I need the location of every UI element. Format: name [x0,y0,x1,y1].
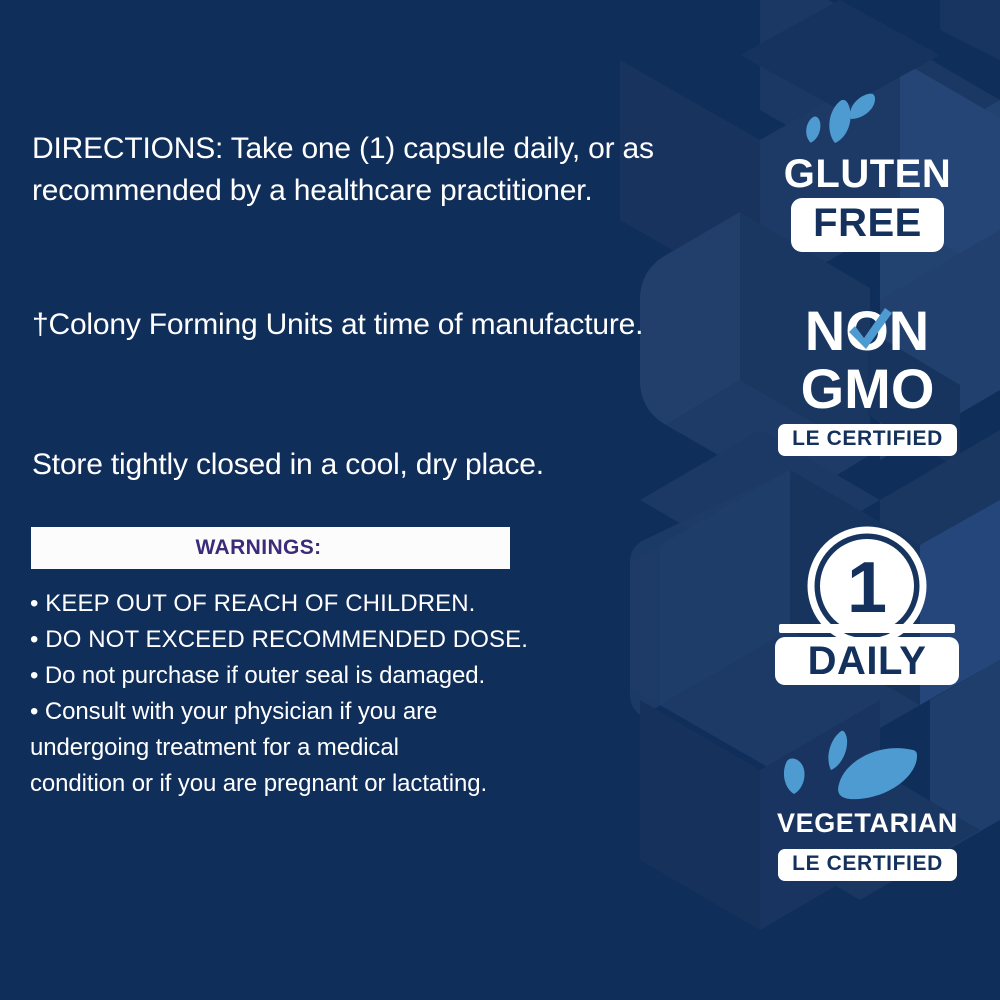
gluten-free-line2-pill: FREE [791,198,944,252]
storage-instructions-paragraph: Store tightly closed in a cool, dry plac… [32,444,692,486]
warnings-banner: WARNINGS: [31,527,510,569]
warnings-list: • KEEP OUT OF REACH OF CHILDREN. • DO NO… [30,586,630,802]
one-daily-graphic: 1 DAILY 1 DAILY [735,524,1000,684]
vegetarian-label: VEGETARIAN [735,808,1000,839]
badge-non-gmo: NON NON GMO LE CERTIFIED [735,300,1000,456]
gluten-free-leaves-wrap [735,88,1000,150]
three-leaves-icon [735,728,1000,802]
gluten-free-line1: GLUTEN [735,152,1000,196]
svg-text:1: 1 [847,548,887,628]
warnings-title: WARNINGS: [195,536,321,560]
circle-numeral-icon: 1 DAILY [735,524,1000,689]
svg-text:DAILY: DAILY [808,639,927,683]
non-gmo-line2: GMO [735,360,1000,418]
certification-badges-column: GLUTEN FREE NON NON GMO LE CERTIFIED [735,0,1000,1000]
vegetarian-certified-pill: LE CERTIFIED [778,849,957,881]
vegetarian-leaves-wrap [735,728,1000,802]
non-gmo-line1-wrap: NON NON [735,300,1000,360]
non-gmo-certified-pill: LE CERTIFIED [778,424,957,456]
badge-vegetarian: VEGETARIAN LE CERTIFIED [735,728,1000,881]
checkmark-in-o-icon: NON [735,300,1000,362]
svg-text:NON: NON [805,300,929,362]
cfu-footnote-paragraph: †Colony Forming Units at time of manufac… [32,304,692,346]
warning-item: • Consult with your physician if you are… [30,694,630,802]
directions-paragraph: DIRECTIONS: Take one (1) capsule daily, … [32,128,692,212]
warning-item: • DO NOT EXCEED RECOMMENDED DOSE. [30,622,630,658]
three-leaves-icon [735,88,1000,150]
warning-item: • KEEP OUT OF REACH OF CHILDREN. [30,586,630,622]
product-label-panel: DIRECTIONS: Take one (1) capsule daily, … [0,0,1000,1000]
badge-one-daily: 1 DAILY 1 DAILY [735,524,1000,684]
warning-item: • Do not purchase if outer seal is damag… [30,658,630,694]
badge-gluten-free: GLUTEN FREE [735,88,1000,252]
